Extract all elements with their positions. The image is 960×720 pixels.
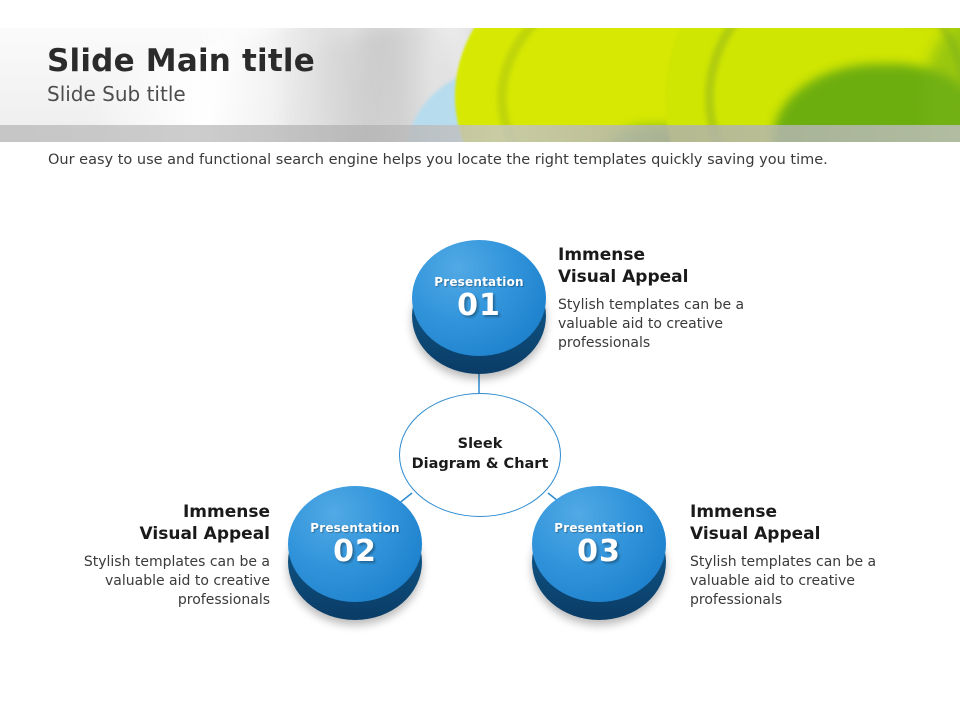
hub-title-line1: Sleek: [458, 435, 503, 455]
node-heading-line1-01: Immense: [558, 245, 645, 265]
node-text-01: Immense Visual Appeal Stylish templates …: [558, 245, 798, 353]
node-heading-line1-02: Immense: [183, 502, 270, 522]
node-heading-03: Immense Visual Appeal: [690, 502, 930, 546]
node-disc-01[interactable]: Presentation 01: [412, 240, 546, 374]
node-heading-01: Immense Visual Appeal: [558, 245, 798, 289]
disc-label-02: Presentation 02: [288, 486, 422, 602]
page-subtitle: Slide Sub title: [47, 83, 315, 106]
disc-caption-02: Presentation: [310, 522, 400, 534]
hub-title-line2: Diagram & Chart: [412, 455, 549, 475]
node-heading-line2-02: Visual Appeal: [140, 524, 270, 544]
page-title: Slide Main title: [47, 44, 315, 79]
disc-number-03: 03: [577, 537, 621, 567]
node-heading-line2-03: Visual Appeal: [690, 524, 820, 544]
node-heading-line2-01: Visual Appeal: [558, 267, 688, 287]
title-block: Slide Main title Slide Sub title: [47, 44, 315, 106]
node-disc-02[interactable]: Presentation 02: [288, 486, 422, 620]
disc-caption-01: Presentation: [434, 276, 524, 288]
node-heading-line1-03: Immense: [690, 502, 777, 522]
node-text-02: Immense Visual Appeal Stylish templates …: [32, 502, 270, 610]
disc-caption-03: Presentation: [554, 522, 644, 534]
node-body-03: Stylish templates can be a valuable aid …: [690, 553, 930, 610]
node-body-02: Stylish templates can be a valuable aid …: [32, 553, 270, 610]
header-gray-band: [0, 125, 960, 142]
node-disc-03[interactable]: Presentation 03: [532, 486, 666, 620]
disc-label-01: Presentation 01: [412, 240, 546, 356]
node-heading-02: Immense Visual Appeal: [32, 502, 270, 546]
disc-number-01: 01: [457, 291, 501, 321]
disc-label-03: Presentation 03: [532, 486, 666, 602]
node-text-03: Immense Visual Appeal Stylish templates …: [690, 502, 930, 610]
lead-paragraph: Our easy to use and functional search en…: [48, 150, 928, 170]
node-body-01: Stylish templates can be a valuable aid …: [558, 296, 798, 353]
disc-number-02: 02: [333, 537, 377, 567]
